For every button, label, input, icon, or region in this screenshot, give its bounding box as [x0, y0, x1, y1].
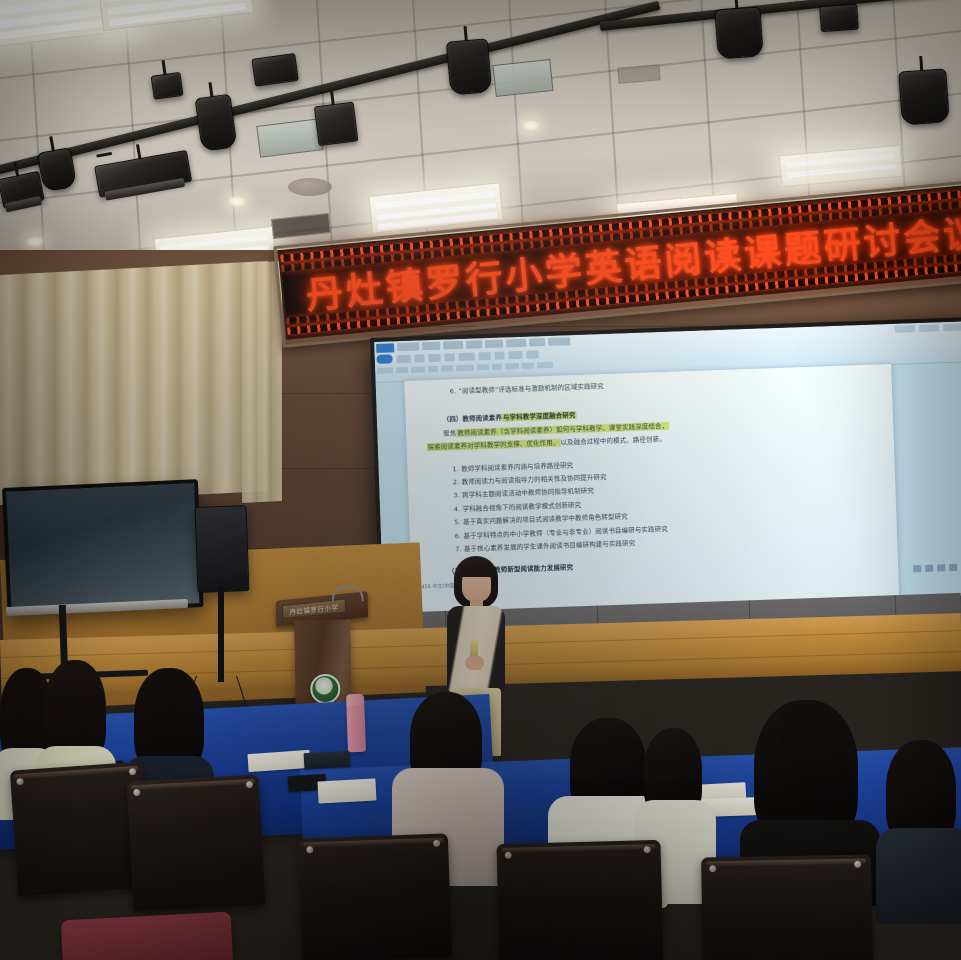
ceiling-downlight	[26, 236, 44, 247]
ribbon-button[interactable]	[526, 350, 538, 358]
ribbon-small-button[interactable]	[537, 361, 553, 368]
ribbon-small-button[interactable]	[411, 366, 425, 372]
presenter-fringe	[459, 564, 494, 577]
ribbon-small-button[interactable]	[428, 365, 438, 371]
wps-logo-icon	[376, 343, 394, 353]
ribbon-small-button[interactable]	[456, 364, 474, 371]
ribbon-tab[interactable]	[422, 342, 440, 351]
chair-stud	[644, 846, 651, 853]
chair-stud	[306, 846, 313, 853]
ribbon-button[interactable]	[458, 352, 474, 361]
stage-spotlight	[819, 4, 857, 30]
flat-panel-display[interactable]	[2, 479, 204, 616]
editor-view-button[interactable]	[925, 565, 933, 572]
stage-spotlight	[37, 148, 75, 191]
ribbon-primary-button[interactable]	[376, 354, 392, 364]
stage-spotlight	[898, 68, 948, 123]
stage-spotlight	[151, 72, 182, 98]
chair-stud	[133, 789, 140, 796]
audience-torso	[876, 828, 961, 924]
ribbon-right-controls[interactable]	[895, 323, 961, 332]
ribbon-tab[interactable]	[443, 341, 463, 350]
audience-chair[interactable]	[298, 833, 452, 960]
chair-top-rail	[501, 844, 655, 853]
ribbon-button[interactable]	[494, 351, 504, 359]
ribbon-button[interactable]	[396, 354, 410, 362]
ribbon-tab[interactable]	[529, 338, 545, 347]
audience-chair[interactable]	[127, 775, 266, 912]
editor-view-button[interactable]	[949, 564, 957, 571]
school-crest-icon	[310, 674, 341, 705]
ceiling-speaker-icon	[288, 178, 332, 196]
stage-spotlight	[0, 171, 42, 207]
stage-spotlight	[314, 102, 356, 144]
thermos-flask	[346, 694, 366, 753]
audience-chair-red[interactable]	[61, 912, 234, 960]
ribbon-button[interactable]	[444, 353, 454, 361]
ribbon-small-button[interactable]	[441, 365, 453, 371]
ribbon-tab[interactable]	[466, 340, 482, 349]
ribbon-small-button[interactable]	[477, 364, 489, 370]
ribbon-tab[interactable]	[397, 342, 419, 351]
chair-stud	[246, 781, 253, 788]
ribbon-right-button[interactable]	[895, 325, 915, 333]
chair-top-rail	[131, 779, 255, 790]
ribbon-small-button[interactable]	[505, 362, 519, 368]
editor-view-controls[interactable]	[913, 563, 961, 572]
chair-stud	[709, 865, 716, 872]
ribbon-tab[interactable]	[548, 337, 570, 346]
ribbon-button[interactable]	[428, 353, 440, 361]
ribbon-tab[interactable]	[485, 339, 503, 348]
stage-spotlight	[251, 53, 296, 85]
ribbon-button[interactable]	[478, 351, 490, 359]
text-highlight: 探索阅读素养对学科教学的支撑、优化作用，	[427, 439, 561, 452]
editor-view-button[interactable]	[913, 565, 921, 572]
spotlight-barndoor	[492, 59, 553, 97]
ceiling-downlight	[522, 120, 540, 131]
stage-curtain-edge	[242, 261, 282, 503]
chair-stud	[433, 840, 440, 847]
speaker-tripod-pole	[218, 586, 224, 682]
ribbon-right-button[interactable]	[943, 323, 961, 331]
conference-room-photo: 丹灶镇罗行小学英语阅读课题研讨会议 6. “阅读型教师”评选标准与激励机制的区域…	[0, 0, 961, 960]
notebook	[304, 751, 351, 769]
ribbon-small-button[interactable]	[396, 366, 408, 372]
chair-stud	[505, 852, 512, 859]
presenter-hands	[465, 656, 484, 670]
audience-chair[interactable]	[701, 855, 873, 960]
chair-stud	[854, 861, 861, 868]
chair-stud	[16, 778, 23, 785]
editor-view-button[interactable]	[937, 564, 945, 571]
audience-member	[882, 740, 961, 920]
ribbon-small-button[interactable]	[377, 367, 393, 374]
stage-spotlight	[714, 7, 761, 58]
ribbon-small-button[interactable]	[492, 363, 502, 369]
chair-top-rail	[706, 859, 866, 867]
chair-stud	[129, 768, 136, 775]
ribbon-button[interactable]	[414, 354, 424, 362]
stage-spotlight	[195, 94, 236, 150]
audience-chair[interactable]	[496, 840, 663, 960]
document-papers	[317, 778, 376, 803]
ceiling-downlight	[228, 196, 246, 207]
ribbon-small-button[interactable]	[522, 362, 534, 368]
text-highlight: 与学科教学深度融合研究	[502, 411, 577, 422]
stage-spotlight	[446, 38, 490, 93]
ribbon-button[interactable]	[508, 350, 522, 358]
stage-curtain-left	[0, 261, 268, 505]
pa-speaker	[195, 505, 250, 593]
ribbon-tab[interactable]	[506, 339, 526, 348]
chair-top-rail	[303, 838, 444, 848]
ribbon-right-button[interactable]	[919, 324, 939, 332]
